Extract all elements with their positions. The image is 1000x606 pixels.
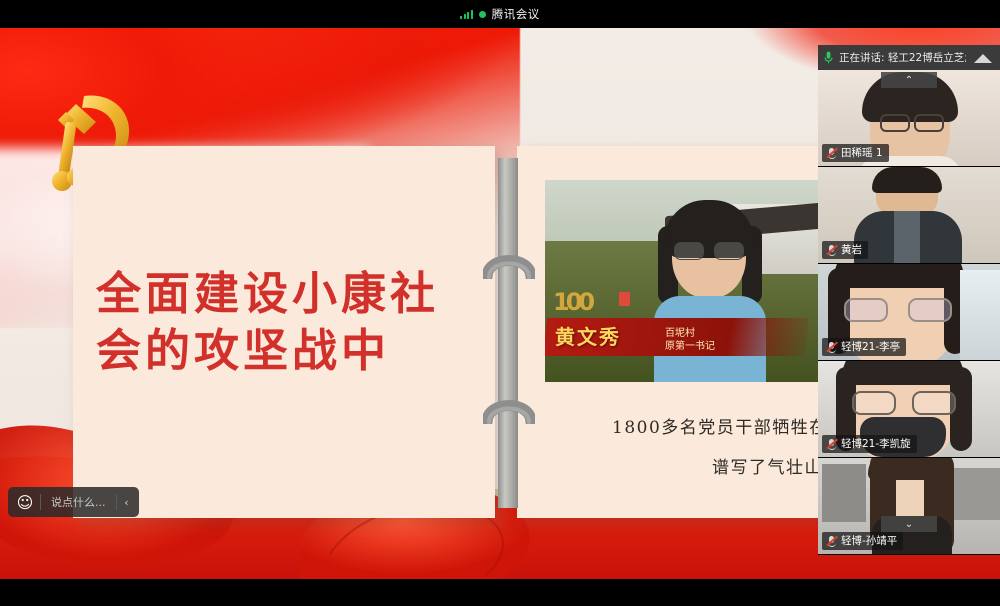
video-corner-logo: 100 — [553, 288, 591, 316]
participant-tile-4[interactable]: 轻博21-李凯旋 — [818, 361, 1000, 458]
participants-scroll-down-button[interactable]: ⌄ — [881, 516, 937, 532]
participant-name-1: 田稀瑶 1 — [822, 144, 889, 162]
chevron-up-icon[interactable] — [972, 51, 994, 65]
participants-scroll-up-button[interactable]: ⌃ — [881, 72, 937, 88]
participant-tiles: ⌃ 田稀瑶 1 — [818, 70, 1000, 555]
slide-title: 全面建设小康社 会的攻坚战中 — [96, 265, 486, 379]
mic-muted-icon — [826, 244, 837, 256]
participant-name-4: 轻博21-李凯旋 — [822, 435, 917, 453]
participant-name-3: 轻博21-李亭 — [822, 338, 906, 356]
video-person-badge — [619, 292, 630, 306]
participant-name-5: 轻博-孙靖平 — [822, 532, 903, 550]
participant-label-2: 黄岩 — [841, 242, 862, 257]
video-subject-title-line1: 百坭村 — [665, 327, 715, 340]
participant-rail: 正在讲话: 轻工22博岳立芝; ⌃ 田稀瑶 1 — [818, 45, 1000, 555]
video-subject-name: 黄文秀 — [555, 321, 621, 350]
participant-tile-5[interactable]: 轻博-孙靖平 ⌄ — [818, 458, 1000, 555]
mic-muted-icon — [826, 341, 837, 353]
tencent-meeting-screen: 腾讯会议 — [0, 0, 1000, 606]
participant-label-5: 轻博-孙靖平 — [841, 533, 897, 548]
smiley-face-icon[interactable]: ☺ — [10, 487, 40, 517]
slide-body-line-2: 谱写了气壮山 — [712, 448, 823, 488]
video-person-glasses — [674, 242, 744, 258]
active-speaker-label: 正在讲话: 轻工22博岳立芝; — [839, 50, 966, 65]
participant-tile-2[interactable]: 黄岩 — [818, 167, 1000, 264]
participant-label-1: 田稀瑶 1 — [841, 145, 883, 160]
mic-muted-icon — [826, 147, 837, 159]
binder-ring-bottom — [483, 388, 535, 424]
binder-ring-top — [483, 243, 535, 279]
mic-muted-icon — [826, 438, 837, 450]
participant-label-4: 轻博21-李凯旋 — [841, 436, 911, 451]
microphone-icon — [824, 51, 833, 64]
chat-input-bar[interactable]: ☺ 说点什么... ‹ — [8, 487, 139, 517]
video-subject-title: 百坭村 原第一书记 — [665, 327, 715, 353]
embedded-video-still: 100 黄文秀 百坭村 原第一书记 — [545, 180, 855, 382]
participant-name-2: 黄岩 — [822, 241, 868, 259]
app-name-label: 腾讯会议 — [492, 6, 540, 22]
signal-bars-icon — [460, 10, 473, 19]
system-top-bar: 腾讯会议 — [0, 0, 1000, 28]
slide-body-line-1: 1800多名党员干部牺牲在 — [612, 408, 828, 448]
participant-tile-3[interactable]: 轻博21-李亭 — [818, 264, 1000, 361]
mic-muted-icon — [826, 535, 837, 547]
active-speaker-bar: 正在讲话: 轻工22博岳立芝; — [818, 45, 1000, 70]
notebook-spiral-binding — [498, 158, 518, 508]
chat-input-placeholder[interactable]: 说点什么... — [41, 494, 116, 510]
green-status-dot — [479, 11, 486, 18]
chat-collapse-button[interactable]: ‹ — [117, 487, 137, 517]
participant-label-3: 轻博21-李亭 — [841, 339, 900, 354]
video-subject-title-line2: 原第一书记 — [665, 340, 715, 353]
